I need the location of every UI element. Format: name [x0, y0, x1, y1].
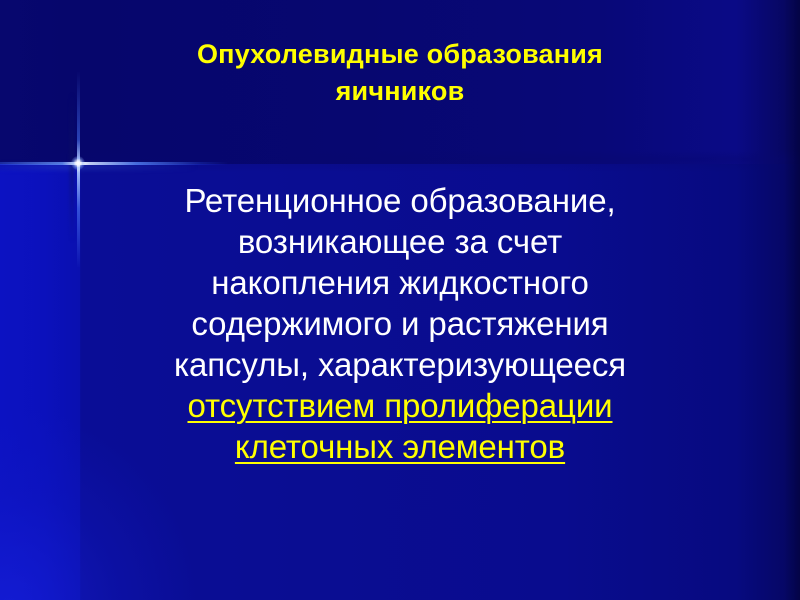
- slide-body-line-2: возникающее за счет: [60, 221, 740, 262]
- slide-title: Опухолевидные образования яичников: [100, 36, 700, 110]
- slide-body-line-1: Ретенционное образование,: [60, 180, 740, 221]
- slide-body-line-3: накопления жидкостного: [60, 262, 740, 303]
- slide-body-line-6: отсутствием пролиферации: [60, 385, 740, 426]
- slide-title-line-1: Опухолевидные образования: [100, 36, 700, 73]
- presentation-slide: Опухолевидные образования яичников Ретен…: [0, 0, 800, 600]
- sparkle-ray-horizontal: [0, 162, 228, 165]
- slide-body: Ретенционное образование, возникающее за…: [60, 180, 740, 467]
- sparkle-core: [71, 156, 85, 170]
- slide-body-line-7: клеточных элементов: [60, 426, 740, 467]
- slide-body-line-5: капсулы, характеризующееся: [60, 344, 740, 385]
- slide-body-line-4: содержимого и растяжения: [60, 303, 740, 344]
- slide-background-right-edge: [784, 0, 800, 600]
- slide-title-line-2: яичников: [100, 73, 700, 110]
